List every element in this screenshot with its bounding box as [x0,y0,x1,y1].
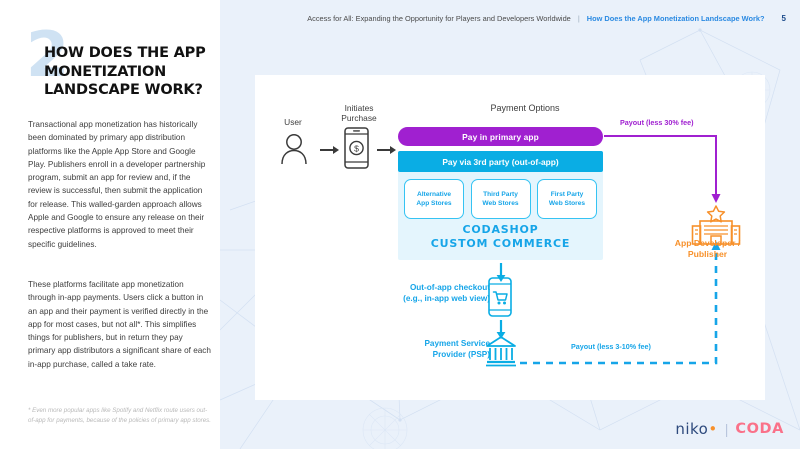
payout-psp-label: Payout (less 3-10% fee) [571,342,651,351]
initiates-purchase-label: Initiates Purchase [323,103,395,123]
left-content-panel: 2 How does the app monetization landscap… [0,0,220,449]
breadcrumb: Access for All: Expanding the Opportunit… [307,14,786,23]
codashop-line2: CUSTOM COMMERCE [398,237,603,251]
body-paragraph-2: These platforms facilitate app monetizat… [28,278,211,371]
store-box-line1: First Party [551,190,584,199]
store-box-third-party-web-stores[interactable]: Third Party Web Stores [471,179,531,219]
pay-in-primary-app-bar[interactable]: Pay in primary app [398,127,603,146]
pay-via-third-party-bar[interactable]: Pay via 3rd party (out-of-app) [398,151,603,172]
niko-logo: niko• [675,420,717,438]
footer-logos: niko• | CODA [675,420,784,438]
store-box-row: Alternative App Stores Third Party Web S… [404,179,597,219]
niko-logo-dot: • [708,420,717,438]
store-box-line2: Web Stores [549,199,585,208]
store-box-line1: Third Party [483,190,518,199]
phone-payment-icon: $ [344,127,369,169]
breadcrumb-separator: | [578,14,580,23]
store-box-line2: App Stores [416,199,451,208]
app-developer-publisher-label: App Developer / Publisher [650,238,765,260]
page-number: 5 [782,14,786,23]
footnote: * Even more popular apps like Spotify an… [28,406,211,425]
body-paragraph-1: Transactional app monetization has histo… [28,118,211,251]
breadcrumb-main: Access for All: Expanding the Opportunit… [307,14,571,23]
page-title: How does the app monetization landscape … [44,44,214,100]
logo-divider: | [725,421,729,437]
breadcrumb-active: How Does the App Monetization Landscape … [587,14,765,23]
store-box-alternative-app-stores[interactable]: Alternative App Stores [404,179,464,219]
payout-primary-label: Payout (less 30% fee) [620,118,694,127]
codashop-line1: CODASHOP [398,223,603,237]
store-box-first-party-web-stores[interactable]: First Party Web Stores [537,179,597,219]
arrow-right-icon-2 [377,145,397,155]
codashop-wordmark: CODASHOP CUSTOM COMMERCE [398,223,603,251]
store-box-line1: Alternative [417,190,451,199]
niko-logo-text: niko [675,420,708,438]
payment-options-label: Payment Options [430,103,620,114]
cart-phone-icon [488,277,512,317]
bank-icon [485,335,517,367]
store-box-line2: Web Stores [482,199,518,208]
out-of-app-checkout-label: Out-of-app checkout (e.g., in-app web vi… [380,283,490,304]
user-icon [279,133,309,165]
arrow-right-icon-1 [320,145,340,155]
user-label: User [263,117,323,127]
payment-service-provider-label: Payment Service Provider (PSP) [380,339,490,360]
svg-text:$: $ [354,144,359,154]
coda-logo: CODA [735,421,784,437]
